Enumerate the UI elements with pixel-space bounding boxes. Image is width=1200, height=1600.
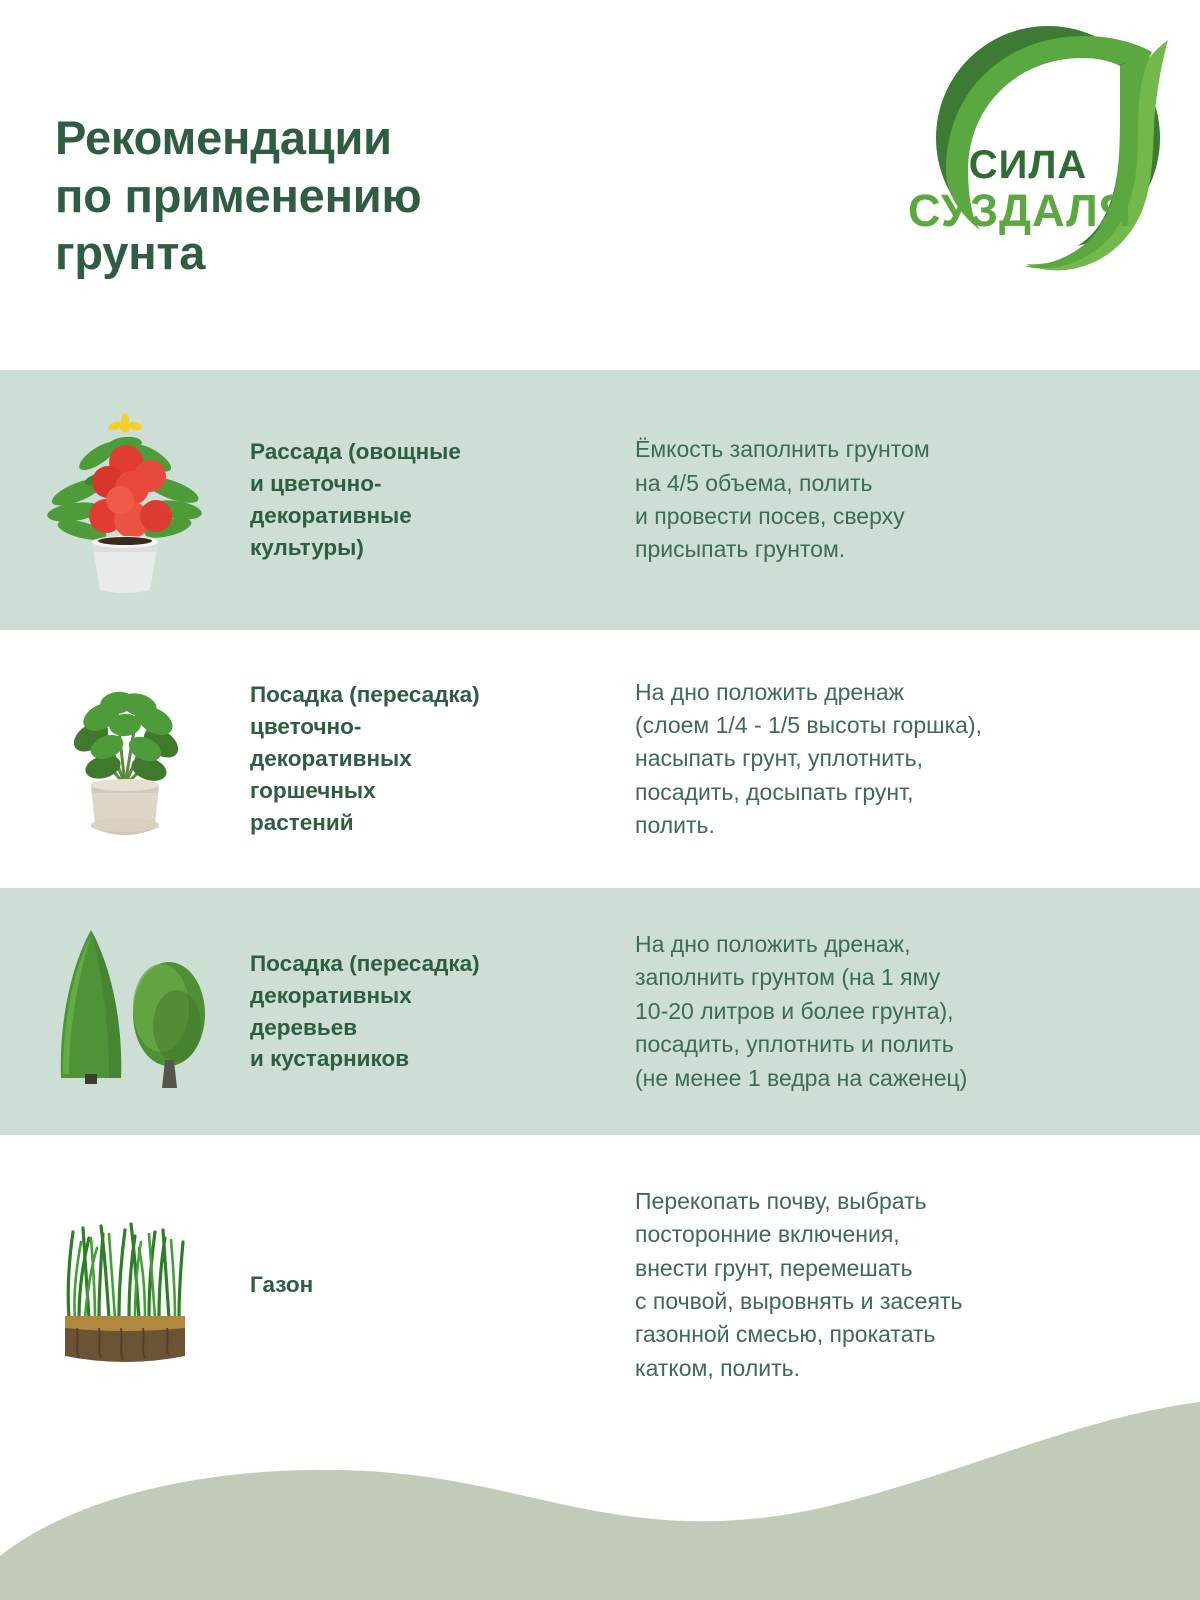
row-label: Газон: [250, 1269, 635, 1301]
page-title: Рекомендации по применению грунта: [55, 109, 675, 281]
table-row: Посадка (пересадка) декоративных деревье…: [0, 888, 1200, 1135]
row-label: Рассада (овощные и цветочно- декоративны…: [250, 436, 635, 564]
row-label: Посадка (пересадка) декоративных деревье…: [250, 948, 635, 1076]
row-image-potted-plant: [0, 630, 250, 888]
recommendation-table: Рассада (овощные и цветочно- декоративны…: [0, 370, 1200, 1435]
row-description: На дно положить дренаж (слоем 1/4 - 1/5 …: [635, 676, 1200, 843]
row-image-tomato-seedling: [0, 370, 250, 630]
brand-logo: СИЛА СУЗДАЛЯ: [906, 18, 1178, 283]
logo-text-line1: СИЛА: [969, 143, 1088, 187]
row-description: Ёмкость заполнить грунтом на 4/5 объема,…: [635, 433, 1200, 566]
table-row: Газон Перекопать почву, выбрать посторон…: [0, 1135, 1200, 1435]
row-image-trees-shrubs: [0, 888, 250, 1135]
infographic-page: Рекомендации по применению грунта СИЛА С…: [0, 0, 1200, 1600]
header: Рекомендации по применению грунта СИЛА С…: [0, 0, 1200, 370]
table-row: Посадка (пересадка) цветочно- декоративн…: [0, 630, 1200, 888]
row-description: На дно положить дренаж, заполнить грунто…: [635, 928, 1200, 1095]
table-row: Рассада (овощные и цветочно- декоративны…: [0, 370, 1200, 630]
logo-text-line2: СУЗДАЛЯ: [908, 185, 1132, 236]
row-image-lawn-turf: [0, 1135, 250, 1435]
row-description: Перекопать почву, выбрать посторонние вк…: [635, 1185, 1200, 1385]
row-label: Посадка (пересадка) цветочно- декоративн…: [250, 679, 635, 839]
